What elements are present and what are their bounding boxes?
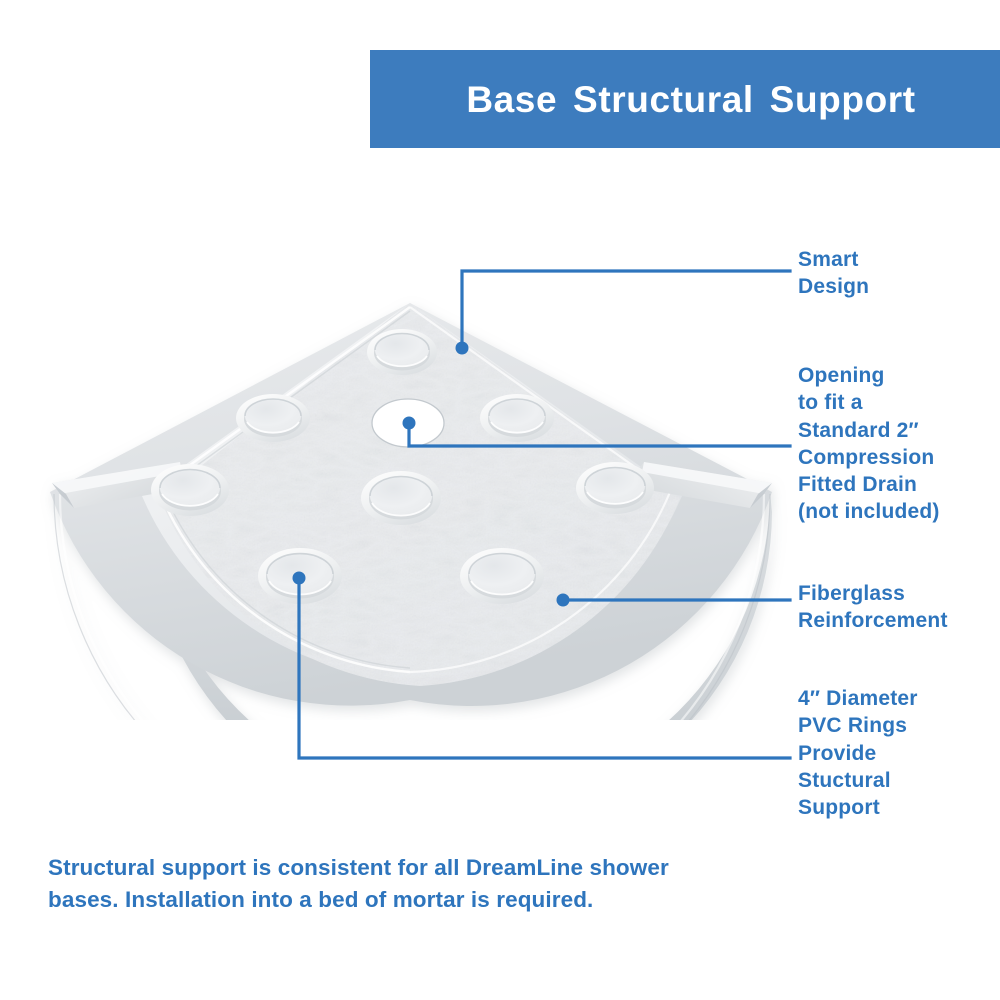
callout-fiberglass: Fiberglass Reinforcement — [798, 580, 1000, 635]
product-illustration — [30, 280, 800, 720]
header-banner: Base Structural Support — [370, 50, 1000, 148]
page-title: Base Structural Support — [466, 81, 915, 118]
bottom-caption: Structural support is consistent for all… — [48, 852, 688, 916]
callout-smart-design: Smart Design — [798, 246, 1000, 301]
callout-pvc-rings: 4″ Diameter PVC Rings Provide Stuctural … — [798, 685, 1000, 821]
diagram-canvas: Base Structural Support — [0, 0, 1000, 1000]
callout-drain-opening: Opening to fit a Standard 2″ Compression… — [798, 362, 1000, 526]
